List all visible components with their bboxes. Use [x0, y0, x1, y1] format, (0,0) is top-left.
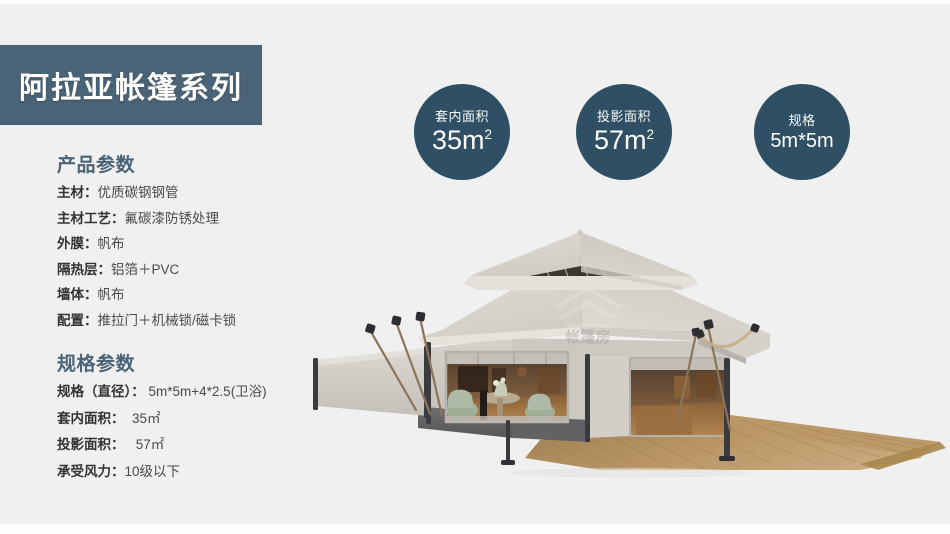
spec-value: 铝箔＋PVC — [111, 262, 179, 277]
spec-label: 墙体： — [57, 287, 98, 302]
list-item: 主材：优质碳钢钢管 — [0, 186, 330, 200]
spec-label: 投影面积： — [57, 437, 125, 452]
list-item: 主材工艺：氟碳漆防锈处理 — [0, 212, 330, 226]
roof-finial — [577, 230, 583, 236]
spec-label: 主材： — [57, 185, 98, 200]
rod-anchors — [365, 311, 426, 334]
spec-label: 隔热层： — [57, 262, 111, 277]
top-bleed-strip — [0, 0, 950, 4]
spec-label: 配置： — [57, 313, 98, 328]
list-item: 外膜：帆布 — [0, 237, 330, 251]
badge-number: 57 — [594, 125, 624, 155]
list-item: 隔热层：铝箔＋PVC — [0, 263, 330, 277]
spec-params-heading: 规格参数 — [0, 349, 330, 376]
awning-post-left — [313, 358, 318, 410]
spec-label: 套内面积： — [57, 411, 125, 426]
badge-unit: m — [624, 125, 647, 155]
watermark-text: 帐篷房 — [565, 328, 610, 346]
badge-label: 投影面积 — [597, 110, 651, 123]
spec-value: 帆布 — [98, 236, 125, 251]
list-item: 规格（直径）： 5m*5m+4*2.5(卫浴) — [0, 385, 330, 399]
series-title-banner: 阿拉亚帐篷系列 — [0, 45, 262, 125]
spec-value: 35㎡ — [132, 411, 161, 426]
list-item: 墙体：帆布 — [0, 288, 330, 302]
badge-label: 套内面积 — [435, 110, 489, 123]
product-params-list: 主材：优质碳钢钢管 主材工艺：氟碳漆防锈处理 外膜：帆布 隔热层：铝箔＋PVC … — [0, 186, 330, 327]
list-item: 套内面积： 35㎡ — [0, 412, 330, 426]
spec-value: 57㎡ — [136, 437, 165, 452]
badge-interior-area: 套内面积 35m2 — [414, 84, 510, 180]
spec-value: 推拉门＋机械锁/磁卡锁 — [98, 313, 237, 328]
badge-superscript: 2 — [647, 127, 655, 142]
badge-value: 5m*5m — [770, 131, 833, 151]
badge-projected-area: 投影面积 57m2 — [576, 84, 672, 180]
page-root: 阿拉亚帐篷系列 产品参数 主材：优质碳钢钢管 主材工艺：氟碳漆防锈处理 外膜：帆… — [0, 0, 950, 534]
luxury-tent-villa-render: 帐篷房 — [300, 230, 950, 520]
product-params-section: 产品参数 主材：优质碳钢钢管 主材工艺：氟碳漆防锈处理 外膜：帆布 隔热层：铝箔… — [0, 150, 330, 327]
support-post-back — [506, 420, 510, 462]
spec-label: 承受风力： — [57, 464, 125, 479]
support-post-center — [585, 354, 590, 442]
list-item: 配置：推拉门＋机械锁/磁卡锁 — [0, 314, 330, 328]
spec-label: 外膜： — [57, 236, 98, 251]
right-bay-wall — [588, 356, 630, 438]
list-item: 承受风力：10级以下 — [0, 465, 330, 479]
product-params-heading: 产品参数 — [0, 150, 330, 177]
list-item: 投影面积： 57㎡ — [0, 438, 330, 452]
bottom-bleed-strip — [0, 524, 950, 534]
spec-value: 10级以下 — [125, 464, 181, 479]
badge-label: 规格 — [788, 114, 815, 127]
badge-dimensions: 规格 5m*5m — [754, 84, 850, 180]
badge-value: 35m2 — [432, 127, 492, 154]
spec-value: 帆布 — [98, 287, 125, 302]
badge-value: 57m2 — [594, 127, 654, 154]
badge-superscript: 2 — [485, 127, 493, 142]
spec-label: 规格（直径）： — [57, 384, 145, 399]
badge-number: 35 — [432, 125, 462, 155]
spec-params-section: 规格参数 规格（直径）： 5m*5m+4*2.5(卫浴) 套内面积： 35㎡ 投… — [0, 349, 330, 478]
spec-value: 氟碳漆防锈处理 — [125, 211, 220, 226]
badge-number: 5m*5m — [770, 130, 833, 152]
spec-value: 5m*5m+4*2.5(卫浴) — [149, 384, 267, 399]
badge-unit: m — [462, 125, 485, 155]
spec-value: 优质碳钢钢管 — [98, 185, 179, 200]
page-title: 阿拉亚帐篷系列 — [19, 63, 243, 107]
specs-column: 产品参数 主材：优质碳钢钢管 主材工艺：氟碳漆防锈处理 外膜：帆布 隔热层：铝箔… — [0, 150, 330, 491]
spec-params-list: 规格（直径）： 5m*5m+4*2.5(卫浴) 套内面积： 35㎡ 投影面积： … — [0, 385, 330, 478]
spec-label: 主材工艺： — [57, 211, 125, 226]
